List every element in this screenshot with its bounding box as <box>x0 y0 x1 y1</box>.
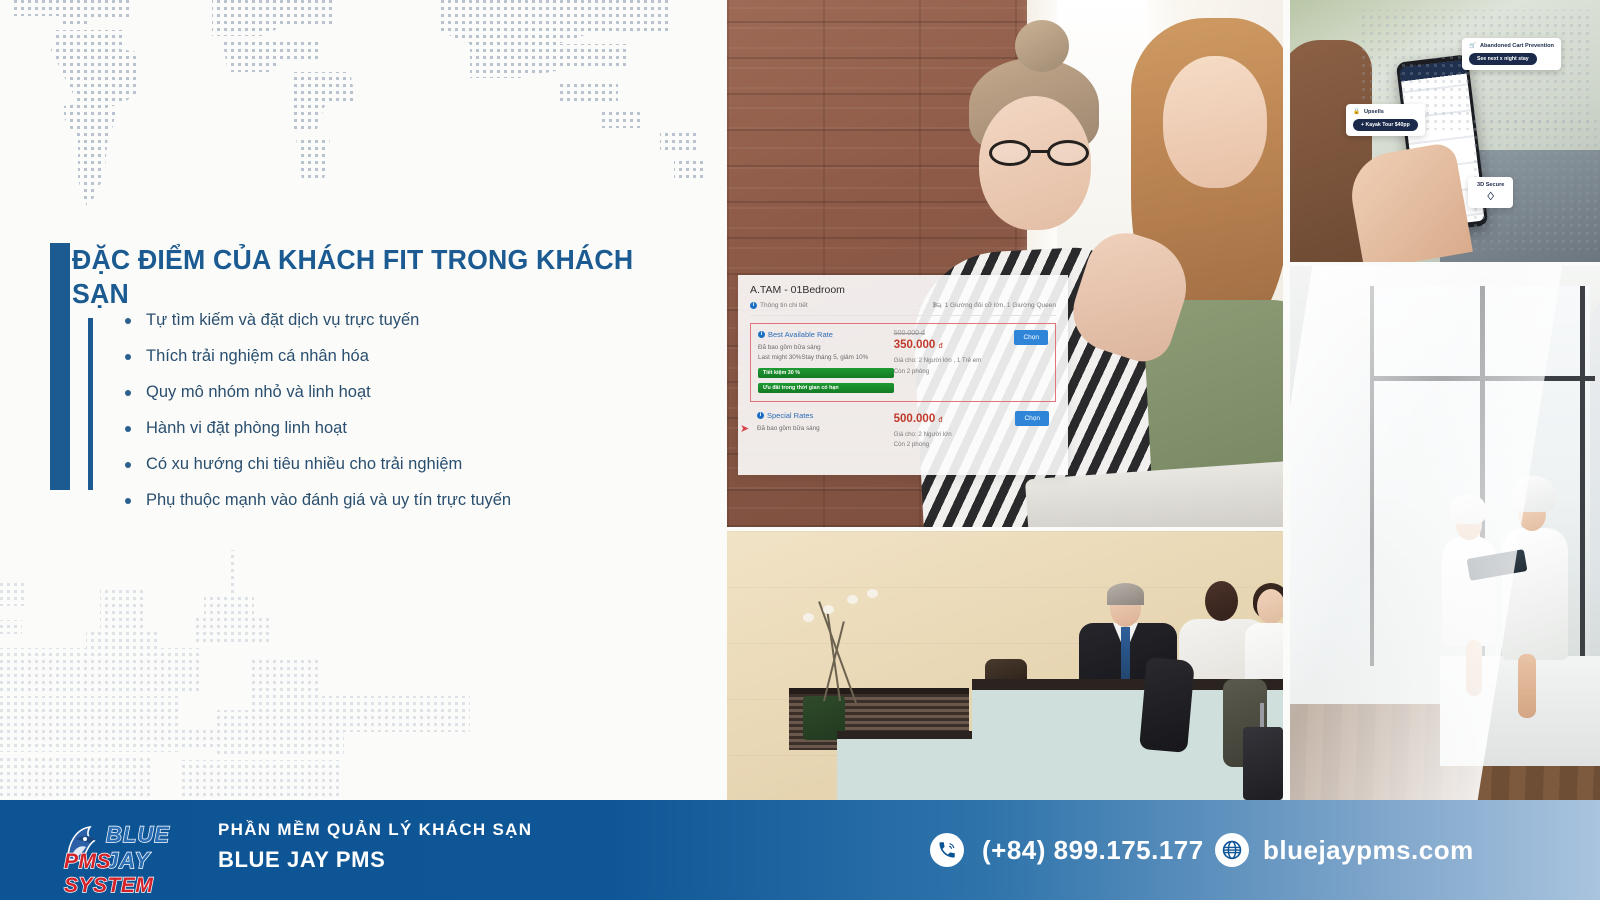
price-value: 350.000 <box>894 339 936 351</box>
bed-info: 🛏 1 Giường đôi cỡ lớn, 1 Giường Queen <box>933 301 1056 309</box>
logo-text-bottom: PMS SYSTEM <box>64 850 202 898</box>
company-logo[interactable]: BLUE JAY PMS SYSTEM <box>62 818 202 882</box>
rate-action-column: Chọn <box>996 330 1048 393</box>
list-item: Phụ thuộc mạnh vào đánh giá và uy tín tr… <box>122 492 682 509</box>
bullet-dot-icon <box>125 498 131 504</box>
shield-icon: ♢ <box>1477 190 1504 203</box>
callout-title: Upsells <box>1364 109 1384 115</box>
footer-phone-number: (+84) 899.175.177 <box>982 835 1204 866</box>
price-discounted: 350.000 đ <box>894 339 996 351</box>
orchid-flower <box>847 595 858 604</box>
footer-brand-name: BLUE JAY PMS <box>218 847 532 873</box>
list-item: Có xu hướng chi tiêu nhiều cho trải nghi… <box>122 456 682 473</box>
bed-icon: 🛏 <box>933 301 942 309</box>
guest-b-leg <box>1518 654 1536 718</box>
bullets-accent-bar <box>88 318 93 490</box>
rate-name-label: Special Rates <box>767 411 813 420</box>
room-details-link[interactable]: i Thông tin chi tiết <box>750 302 808 309</box>
list-item-label: Thích trải nghiệm cá nhân hóa <box>146 347 369 365</box>
choose-button[interactable]: Chọn <box>1014 330 1048 345</box>
left-content-pane: ĐẶC ĐIỂM CỦA KHÁCH FIT TRONG KHÁCH SẠN T… <box>0 0 725 800</box>
bullet-dot-icon <box>125 318 131 324</box>
footer-brand-block: PHẦN MỀM QUẢN LÝ KHÁCH SẠN BLUE JAY PMS <box>218 820 532 873</box>
info-icon: i <box>757 412 764 419</box>
currency-symbol: đ <box>938 341 942 350</box>
lens-right <box>1047 140 1089 166</box>
choose-button[interactable]: Chọn <box>1015 411 1049 426</box>
bullet-dot-icon <box>125 426 131 432</box>
breakfast-note: Đã bao gồm bữa sáng <box>758 343 894 353</box>
list-item: Tự tìm kiếm và đặt dịch vụ trực tuyến <box>122 312 682 329</box>
rate-action-column: Chọn <box>997 411 1049 451</box>
woman-b-head <box>1163 56 1267 188</box>
list-item-label: Phụ thuộc mạnh vào đánh giá và uy tín tr… <box>146 491 511 509</box>
breakfast-note: Đã bao gồm bữa sáng <box>757 424 894 434</box>
lens-left <box>989 140 1031 166</box>
callout-pill-button[interactable]: See next x night stay <box>1469 53 1537 65</box>
photo-hotel-reception <box>727 531 1283 800</box>
globe-glyph <box>1221 839 1243 861</box>
price-value: 500.000 <box>894 413 936 425</box>
bullet-dot-icon <box>125 354 131 360</box>
callout-upsells: 🔒 Upsells + Kayak Tour $40pp <box>1346 104 1425 136</box>
callout-title: Abandoned Cart Prevention <box>1480 43 1554 49</box>
list-item-label: Hành vi đặt phòng linh hoạt <box>146 419 347 437</box>
rate-price-column: 500.000 đ 350.000 đ Giá cho: 2 Người lớn… <box>894 330 996 393</box>
list-item: Hành vi đặt phòng linh hoạt <box>122 420 682 437</box>
info-icon: i <box>750 302 757 309</box>
callout-pill-button[interactable]: + Kayak Tour $40pp <box>1353 119 1418 131</box>
receptionist-tie <box>1121 627 1130 679</box>
list-item-label: Tự tìm kiếm và đặt dịch vụ trực tuyến <box>146 311 419 329</box>
rolling-luggage <box>1243 727 1283 800</box>
availability: Còn 2 phòng <box>894 440 997 451</box>
list-item-label: Có xu hướng chi tiêu nhiều cho trải nghi… <box>146 455 462 473</box>
availability: Còn 2 phòng <box>894 367 996 378</box>
globe-icon <box>1215 833 1249 867</box>
promo-note: Last might 30%Stay tháng 5, giảm 10% <box>758 353 894 363</box>
rate-name[interactable]: i Best Available Rate <box>758 330 894 339</box>
feature-bullet-list: Tự tìm kiếm và đặt dịch vụ trực tuyến Th… <box>122 312 682 529</box>
footer-bar: BLUE JAY PMS SYSTEM PHẦN MỀM QUẢN LÝ KHÁ… <box>0 800 1600 900</box>
window-frame-right <box>1580 286 1585 666</box>
title-accent-bar <box>50 243 70 490</box>
list-item-label: Quy mô nhóm nhỏ và linh hoạt <box>146 383 371 401</box>
footer-phone-contact[interactable]: (+84) 899.175.177 <box>930 800 1204 900</box>
rate-name-label: Best Available Rate <box>768 330 833 339</box>
footer-tagline: PHẦN MỀM QUẢN LÝ KHÁCH SẠN <box>218 820 532 840</box>
phone-glyph <box>937 840 957 860</box>
guest-2-head <box>1257 589 1283 624</box>
savings-badge: Tiết kiệm 30 % <box>758 368 894 378</box>
list-item: Quy mô nhóm nhỏ và linh hoạt <box>122 384 682 401</box>
price-value-row: 500.000 đ <box>894 413 997 425</box>
currency-symbol: đ <box>938 415 942 424</box>
callout-title-row: 🛒 Abandoned Cart Prevention <box>1469 43 1554 49</box>
footer-website-url: bluejaypms.com <box>1263 835 1474 866</box>
room-subheader: i Thông tin chi tiết 🛏 1 Giường đôi cỡ l… <box>750 301 1056 316</box>
limited-time-badge: Ưu đãi trong thời gian có hạn <box>758 383 894 393</box>
callout-3d-secure: 3D Secure ♢ <box>1468 177 1513 208</box>
info-icon: i <box>758 331 765 338</box>
rate-description-column: i Best Available Rate Đã bao gồm bữa sán… <box>758 330 894 393</box>
woman-a-hair-bun <box>1015 20 1069 72</box>
callout-abandoned-cart: 🛒 Abandoned Cart Prevention See next x n… <box>1462 38 1561 70</box>
eyeglasses-icon <box>989 140 1093 166</box>
receptionist-hair <box>1107 583 1144 605</box>
rate-description-column: i Special Rates Đã bao gồm bữa sáng <box>757 411 894 451</box>
bullet-dot-icon <box>125 390 131 396</box>
bed-info-label: 1 Giường đôi cỡ lớn, 1 Giường Queen <box>945 302 1056 309</box>
guest-count: Giá cho: 2 Người lớn , 1 Trẻ em <box>894 356 996 367</box>
rate-name[interactable]: i Special Rates <box>757 411 894 420</box>
lock-icon: 🔒 <box>1353 109 1360 115</box>
table-row: i Best Available Rate Đã bao gồm bữa sán… <box>758 330 1048 393</box>
list-item: Thích trải nghiệm cá nhân hóa <box>122 348 682 365</box>
booking-rate-card[interactable]: A.TAM - 01Bedroom i Thông tin chi tiết 🛏… <box>738 275 1068 475</box>
best-rate-highlight-box: ➤ i Best Available Rate Đã bao gồm bữa s… <box>750 323 1056 402</box>
page-title: ĐẶC ĐIỂM CỦA KHÁCH FIT TRONG KHÁCH SẠN <box>72 243 654 312</box>
cart-icon: 🛒 <box>1469 43 1476 49</box>
orchid-flower <box>823 605 834 614</box>
callout-title: 3D Secure <box>1477 182 1504 188</box>
footer-website-contact[interactable]: bluejaypms.com <box>1215 800 1474 900</box>
guest-1-head <box>1205 581 1238 621</box>
price-original: 500.000 đ <box>894 330 996 337</box>
photo-mobile-booking: 🛒 Abandoned Cart Prevention See next x n… <box>1290 0 1600 262</box>
draped-coat <box>1139 657 1195 753</box>
guest-count: Giá cho: 2 Người lớn <box>894 430 997 441</box>
room-title: A.TAM - 01Bedroom <box>750 284 1056 296</box>
photo-spa-guests <box>1290 266 1600 800</box>
rate-price-column: 500.000 đ Giá cho: 2 Người lớn Còn 2 phò… <box>894 411 997 451</box>
bullet-dot-icon <box>125 462 131 468</box>
orchid-flower <box>803 613 814 622</box>
room-details-label: Thông tin chi tiết <box>760 302 808 309</box>
orchid-flower <box>867 589 878 598</box>
phone-icon <box>930 833 964 867</box>
table-row: i Special Rates Đã bao gồm bữa sáng 500.… <box>750 411 1056 451</box>
callout-title-row: 🔒 Upsells <box>1353 109 1418 115</box>
